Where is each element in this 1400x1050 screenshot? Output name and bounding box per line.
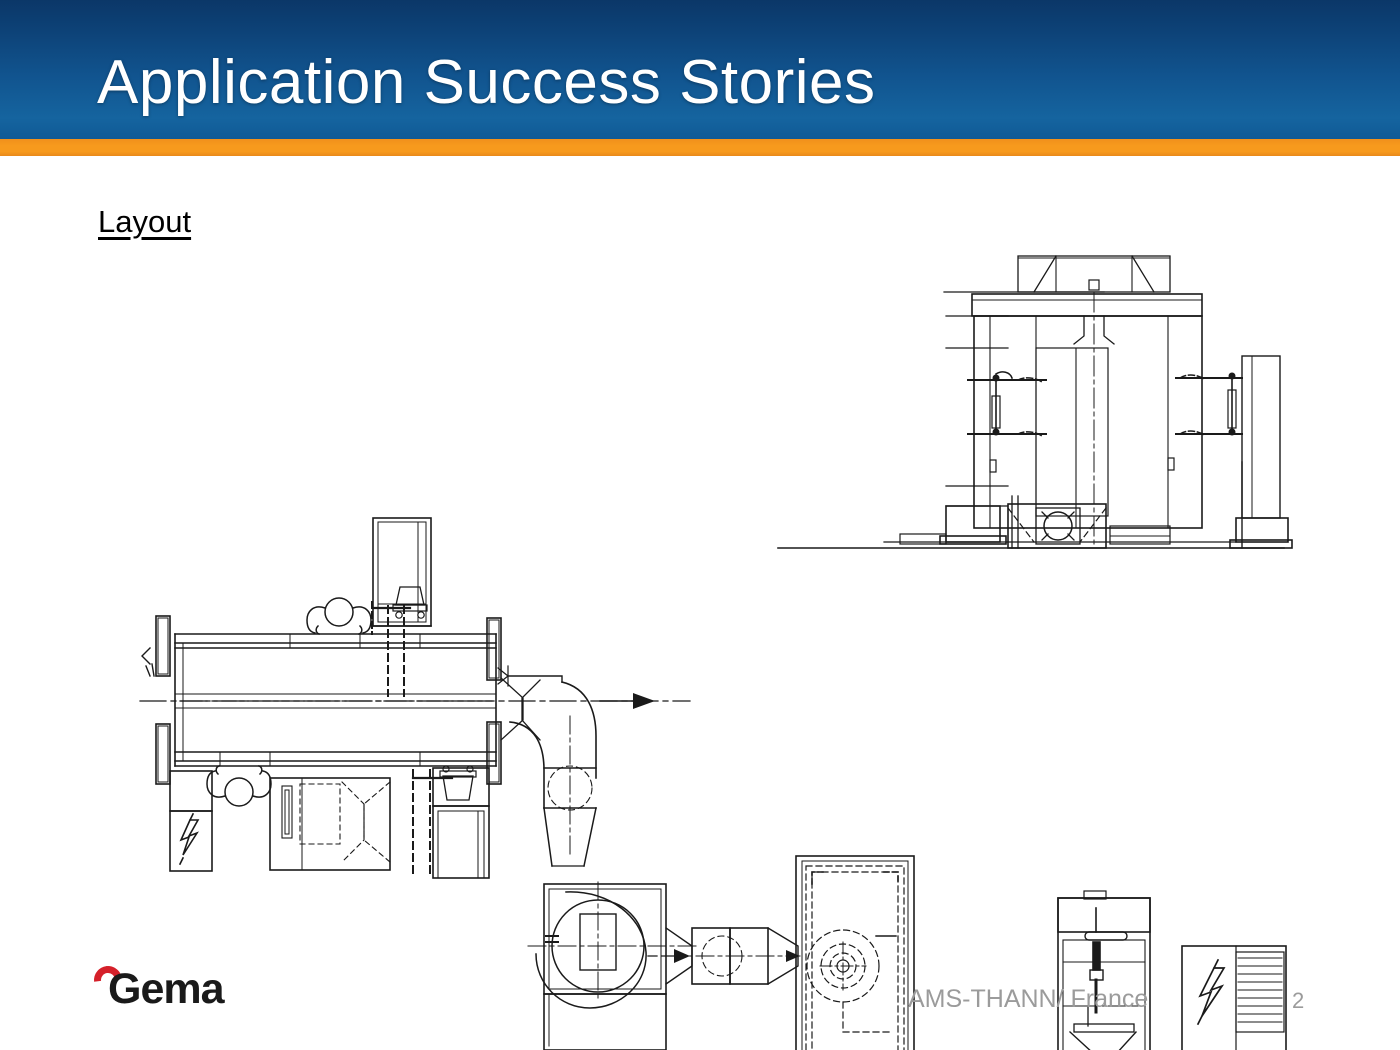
logo-wordmark: Gema (108, 968, 224, 1011)
operator-figure (307, 598, 371, 634)
slide-number: 2 (1292, 988, 1304, 1014)
footer-caption: AMS-THANN/ France (908, 985, 1148, 1014)
gema-logo: Gema (90, 968, 240, 1020)
elevation-view-booth-cabin (778, 256, 1292, 548)
slide-footer: Gema AMS-THANN/ France 2 (0, 940, 1400, 1050)
electrical-hazard-bolt (180, 814, 198, 864)
operator-figure (207, 766, 271, 806)
plan-view-booth-line (140, 518, 690, 878)
slide-content-area: Layout (0, 156, 1400, 1050)
layout-engineering-drawing (0, 156, 1400, 1050)
page-title: Application Success Stories (97, 52, 876, 114)
header-accent-bar (0, 139, 1400, 156)
flow-direction-arrow (600, 693, 655, 709)
